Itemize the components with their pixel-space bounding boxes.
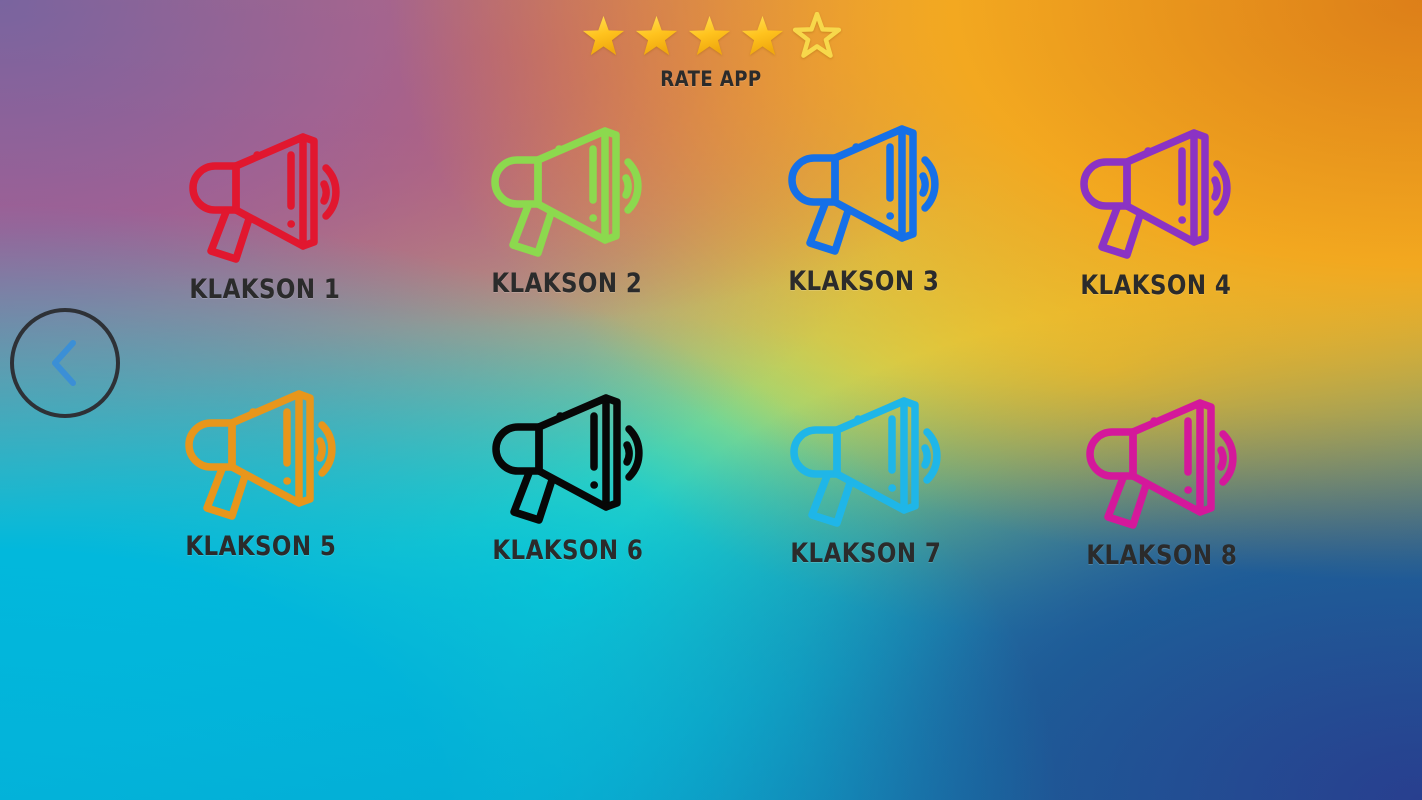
app-stage: RATE APP KLAKSON 1KLAKSON 2KLAKSON 3KLAK…: [0, 0, 1422, 800]
chevron-left-icon: [43, 335, 87, 391]
horn-button-8[interactable]: KLAKSON 8: [1016, 380, 1309, 638]
horn-button-5[interactable]: KLAKSON 5: [115, 371, 408, 629]
megaphone-icon: [181, 118, 349, 268]
star-icon-1[interactable]: [579, 14, 628, 63]
star-icon-2[interactable]: [632, 14, 681, 63]
horn-button-4[interactable]: KLAKSON 4: [1010, 110, 1303, 368]
horn-grid: KLAKSON 1KLAKSON 2KLAKSON 3KLAKSON 4KLAK…: [132, 112, 1302, 628]
horn-label: KLAKSON 5: [186, 531, 337, 562]
horn-label: KLAKSON 4: [1080, 270, 1231, 301]
horn-label: KLAKSON 8: [1086, 540, 1237, 571]
star-icon-3[interactable]: [685, 14, 734, 63]
horn-button-7[interactable]: KLAKSON 7: [720, 378, 1013, 636]
horn-button-1[interactable]: KLAKSON 1: [119, 114, 412, 372]
horn-label: KLAKSON 1: [190, 274, 341, 305]
megaphone-icon: [177, 375, 345, 525]
star-icon-4[interactable]: [738, 14, 787, 63]
horn-label: KLAKSON 6: [492, 535, 643, 566]
horn-button-3[interactable]: KLAKSON 3: [718, 106, 1011, 364]
megaphone-icon: [1078, 384, 1246, 534]
megaphone-icon: [483, 112, 651, 262]
horn-label: KLAKSON 3: [789, 266, 940, 297]
megaphone-icon: [782, 382, 950, 532]
horn-label: KLAKSON 2: [491, 268, 642, 299]
rate-app-widget[interactable]: RATE APP: [0, 14, 1422, 91]
star-rating[interactable]: [579, 14, 843, 62]
megaphone-icon: [484, 379, 652, 529]
megaphone-icon: [780, 110, 948, 260]
star-icon-5[interactable]: [791, 12, 843, 64]
megaphone-icon: [1072, 114, 1240, 264]
horn-label: KLAKSON 7: [791, 538, 942, 569]
horn-button-6[interactable]: KLAKSON 6: [422, 375, 715, 633]
horn-button-2[interactable]: KLAKSON 2: [421, 108, 714, 366]
rate-app-label: RATE APP: [660, 67, 761, 91]
back-button[interactable]: [10, 308, 120, 418]
